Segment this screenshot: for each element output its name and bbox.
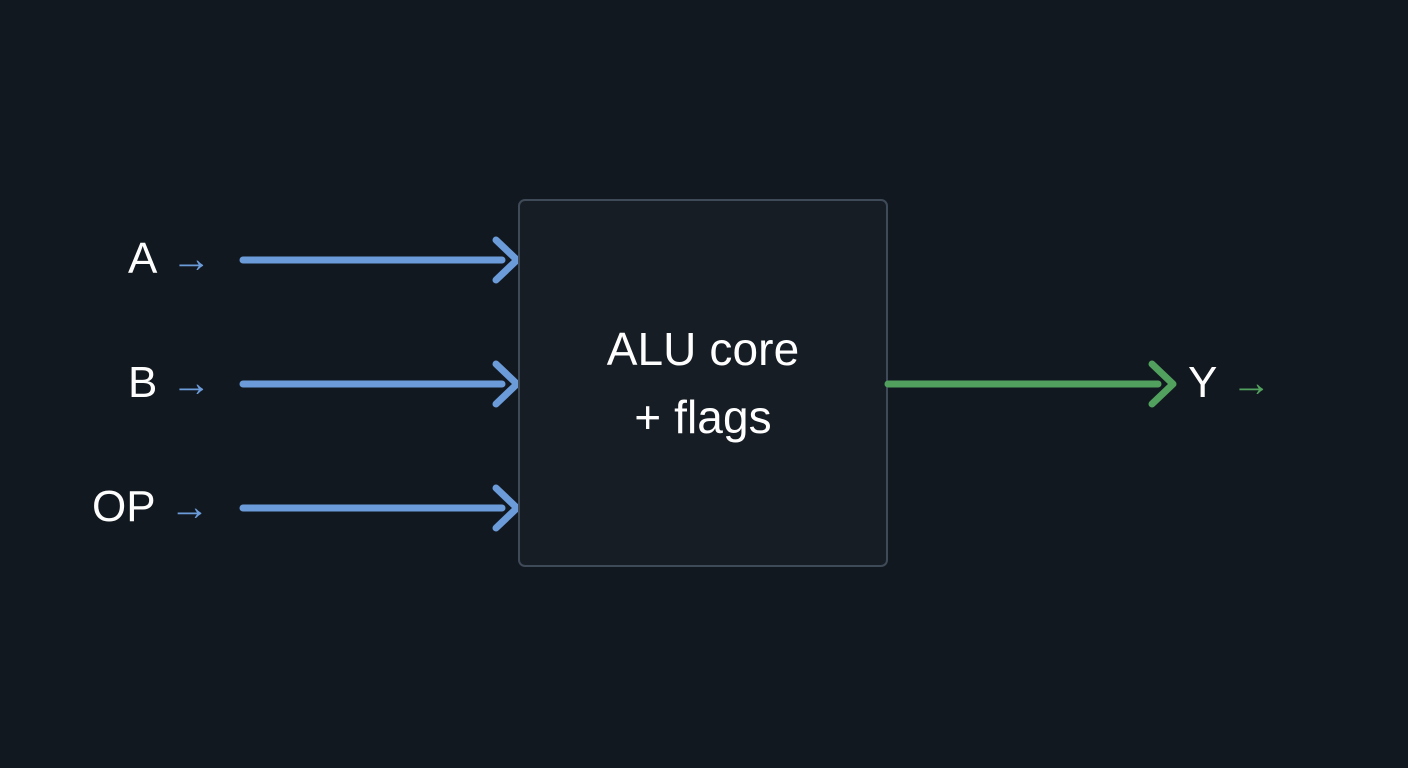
diagram-canvas: A → B → OP → ALU core + flags Y → — [0, 0, 1408, 768]
block-label-line-1: ALU core — [607, 315, 800, 383]
output-signal-y: Y → — [1188, 343, 1271, 423]
arrow-right-icon: → — [1231, 363, 1271, 403]
connector-b-to-block — [238, 358, 523, 410]
connector-block-to-y — [886, 358, 1181, 410]
connector-op-to-block — [238, 482, 523, 534]
alu-core-block[interactable]: ALU core + flags — [518, 199, 888, 567]
input-label-a: A — [128, 237, 157, 281]
arrow-right-icon: → — [171, 363, 211, 403]
arrow-right-icon: → — [170, 487, 210, 527]
input-signal-b: B → — [128, 343, 211, 423]
connector-a-to-block — [238, 234, 523, 286]
block-label-line-2: + flags — [634, 383, 772, 451]
input-label-op: OP — [92, 485, 156, 529]
input-signal-a: A → — [128, 219, 211, 299]
arrow-right-icon: → — [171, 239, 211, 279]
input-signal-op: OP → — [92, 467, 210, 547]
input-label-b: B — [128, 361, 157, 405]
output-label-y: Y — [1188, 361, 1217, 405]
